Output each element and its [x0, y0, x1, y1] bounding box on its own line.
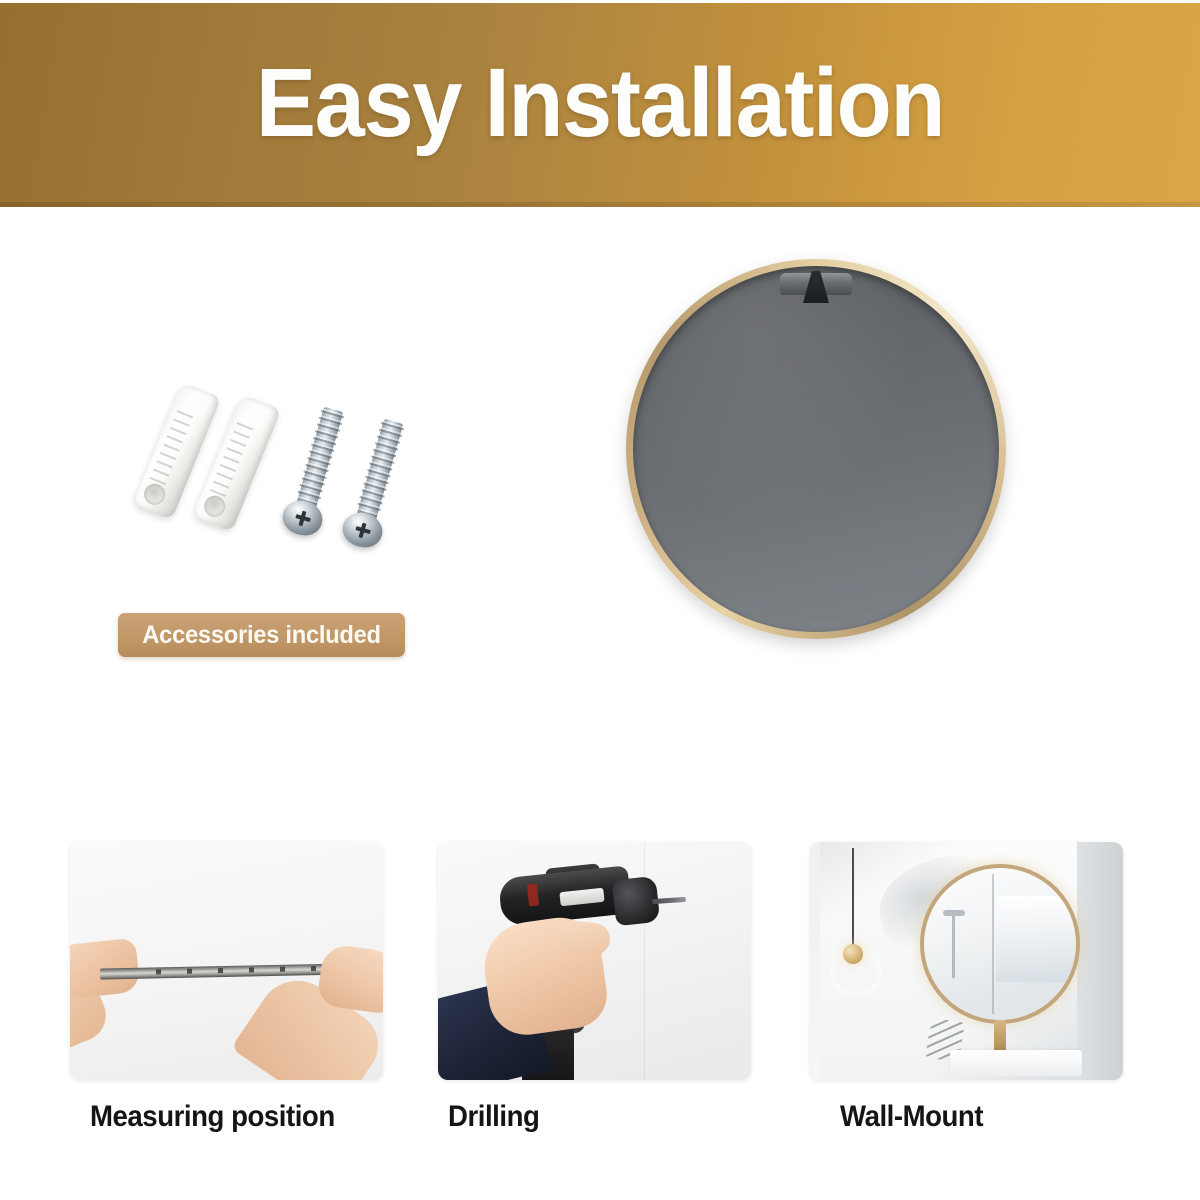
accessories-included-badge: Accessories included	[118, 613, 405, 657]
screw-icon	[338, 416, 414, 558]
mirror-reflection-panel	[996, 896, 1076, 982]
step-card-drilling: Drilling	[438, 842, 751, 1134]
accessories-photo	[150, 375, 440, 565]
drill-accent-stripe	[527, 884, 539, 907]
step-photo-measuring	[70, 842, 383, 1080]
step-photo-drilling	[438, 842, 751, 1080]
hero-section: Accessories included	[0, 207, 1200, 820]
side-wall	[1077, 842, 1123, 1080]
installation-steps-row: Measuring position Drilling	[0, 820, 1200, 1200]
gold-faucet-icon	[994, 1020, 1006, 1054]
pendant-light-bulb	[843, 944, 863, 964]
mounted-round-mirror	[920, 864, 1080, 1024]
sink-basin	[950, 1050, 1082, 1076]
accessories-badge-label: Accessories included	[142, 621, 381, 650]
step-caption-wallmount: Wall-Mount	[840, 1100, 1100, 1134]
round-mirror-product-image	[626, 259, 1006, 639]
mirror-mounting-bracket-icon	[780, 269, 852, 303]
step-card-measuring: Measuring position	[70, 842, 383, 1134]
mirror-glass	[633, 266, 999, 632]
page-title: Easy Installation	[256, 54, 944, 151]
mirror-gold-frame	[626, 259, 1006, 639]
step-card-wallmount: Wall-Mount	[810, 842, 1123, 1134]
pendant-light-cord	[852, 848, 854, 948]
mirror-reflection-line	[992, 874, 994, 1014]
mirror-reflection-shower	[952, 916, 955, 978]
screw-thread	[354, 420, 405, 525]
step-caption-drilling: Drilling	[448, 1100, 727, 1134]
header-banner: Easy Installation	[0, 3, 1200, 207]
step-caption-measuring: Measuring position	[90, 1100, 360, 1134]
screw-thread	[294, 408, 345, 513]
drill-bit-icon	[652, 897, 686, 904]
step-photo-wallmount	[810, 842, 1123, 1080]
